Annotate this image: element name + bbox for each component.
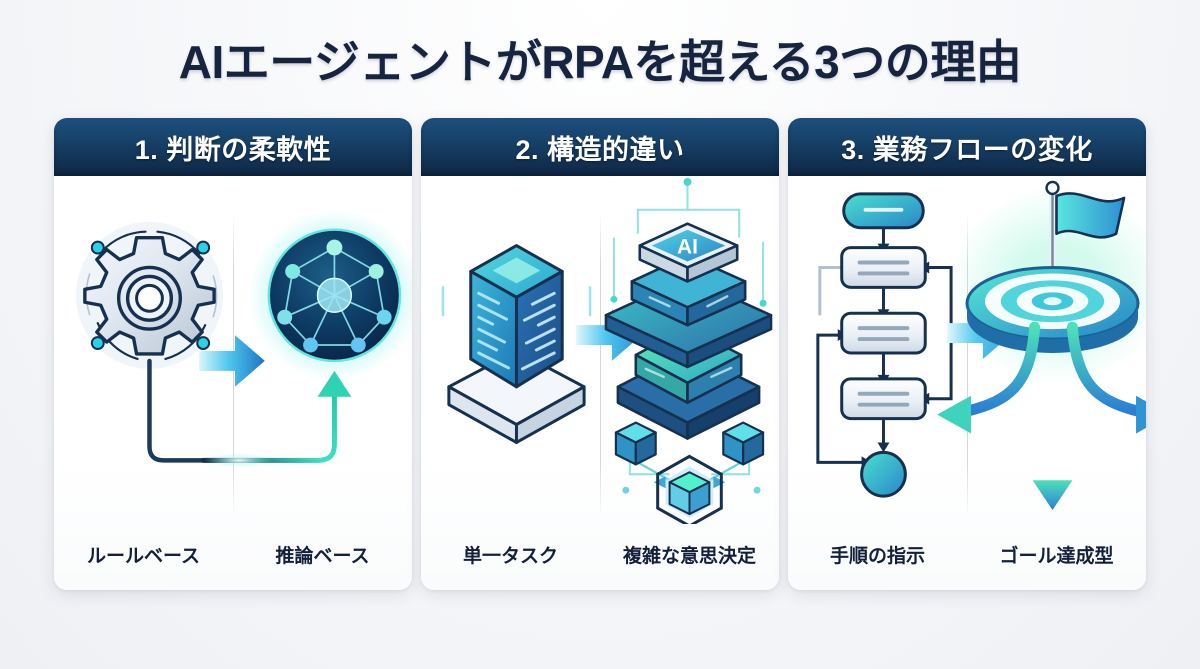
gear-icon <box>85 238 214 354</box>
card-1-captions: ルールベース 推論ベース <box>54 541 412 568</box>
page-title-area: AIエージェントがRPAを超える3つの理由 <box>0 0 1200 118</box>
card-workflow-change[interactable]: 3. 業務フローの変化 <box>788 118 1146 590</box>
card-2-body: AI <box>421 176 779 590</box>
card-3-captions: 手順の指示 ゴール達成型 <box>788 541 1146 568</box>
page-title: AIエージェントがRPAを超える3つの理由 <box>179 26 1022 92</box>
flow-step-2 <box>842 313 926 353</box>
linear-flowchart-icon <box>818 194 951 496</box>
card-3-body: 手順の指示 ゴール達成型 <box>788 176 1146 590</box>
card-3-header: 3. 業務フローの変化 <box>788 118 1146 176</box>
hex-cube-right <box>723 423 763 465</box>
isometric-server-block-icon <box>443 246 590 443</box>
card-2-header: 2. 構造的違い <box>421 118 779 176</box>
flow-end-node <box>862 452 906 496</box>
card-1-left-caption: ルールベース <box>54 541 233 568</box>
card-1-illustration <box>54 176 412 524</box>
card-2-captions: 単一タスク 複雑な意思決定 <box>421 541 779 568</box>
hex-cube-left <box>616 423 656 465</box>
card-3-header-label: 3. 業務フローの変化 <box>841 128 1093 167</box>
target-flag-diverging-arrows-icon <box>937 182 1146 510</box>
card-structural-difference[interactable]: 2. 構造的違い <box>421 118 779 590</box>
card-3-left-caption: 手順の指示 <box>788 541 967 568</box>
card-1-header: 1. 判断の柔軟性 <box>54 118 412 176</box>
neural-network-orb-icon <box>249 210 412 381</box>
card-2-right-caption: 複雑な意思決定 <box>600 541 779 568</box>
card-3-illustration <box>788 176 1146 524</box>
flow-step-3 <box>842 379 926 419</box>
flow-step-1 <box>842 248 926 288</box>
flow-start-node <box>844 194 924 228</box>
card-1-right-caption: 推論ベース <box>233 541 412 568</box>
hex-center-cube <box>670 472 710 514</box>
cards-row: 1. 判断の柔軟性 <box>0 118 1200 590</box>
card-1-header-label: 1. 判断の柔軟性 <box>135 128 332 167</box>
card-2-left-caption: 単一タスク <box>421 541 600 568</box>
card-2-illustration: AI <box>421 176 779 524</box>
card-judgement-flexibility[interactable]: 1. 判断の柔軟性 <box>54 118 412 590</box>
ai-chip-label: AI <box>677 236 698 259</box>
card-3-right-caption: ゴール達成型 <box>967 541 1146 568</box>
card-1-body: ルールベース 推論ベース <box>54 176 412 590</box>
card-2-header-label: 2. 構造的違い <box>515 128 684 167</box>
